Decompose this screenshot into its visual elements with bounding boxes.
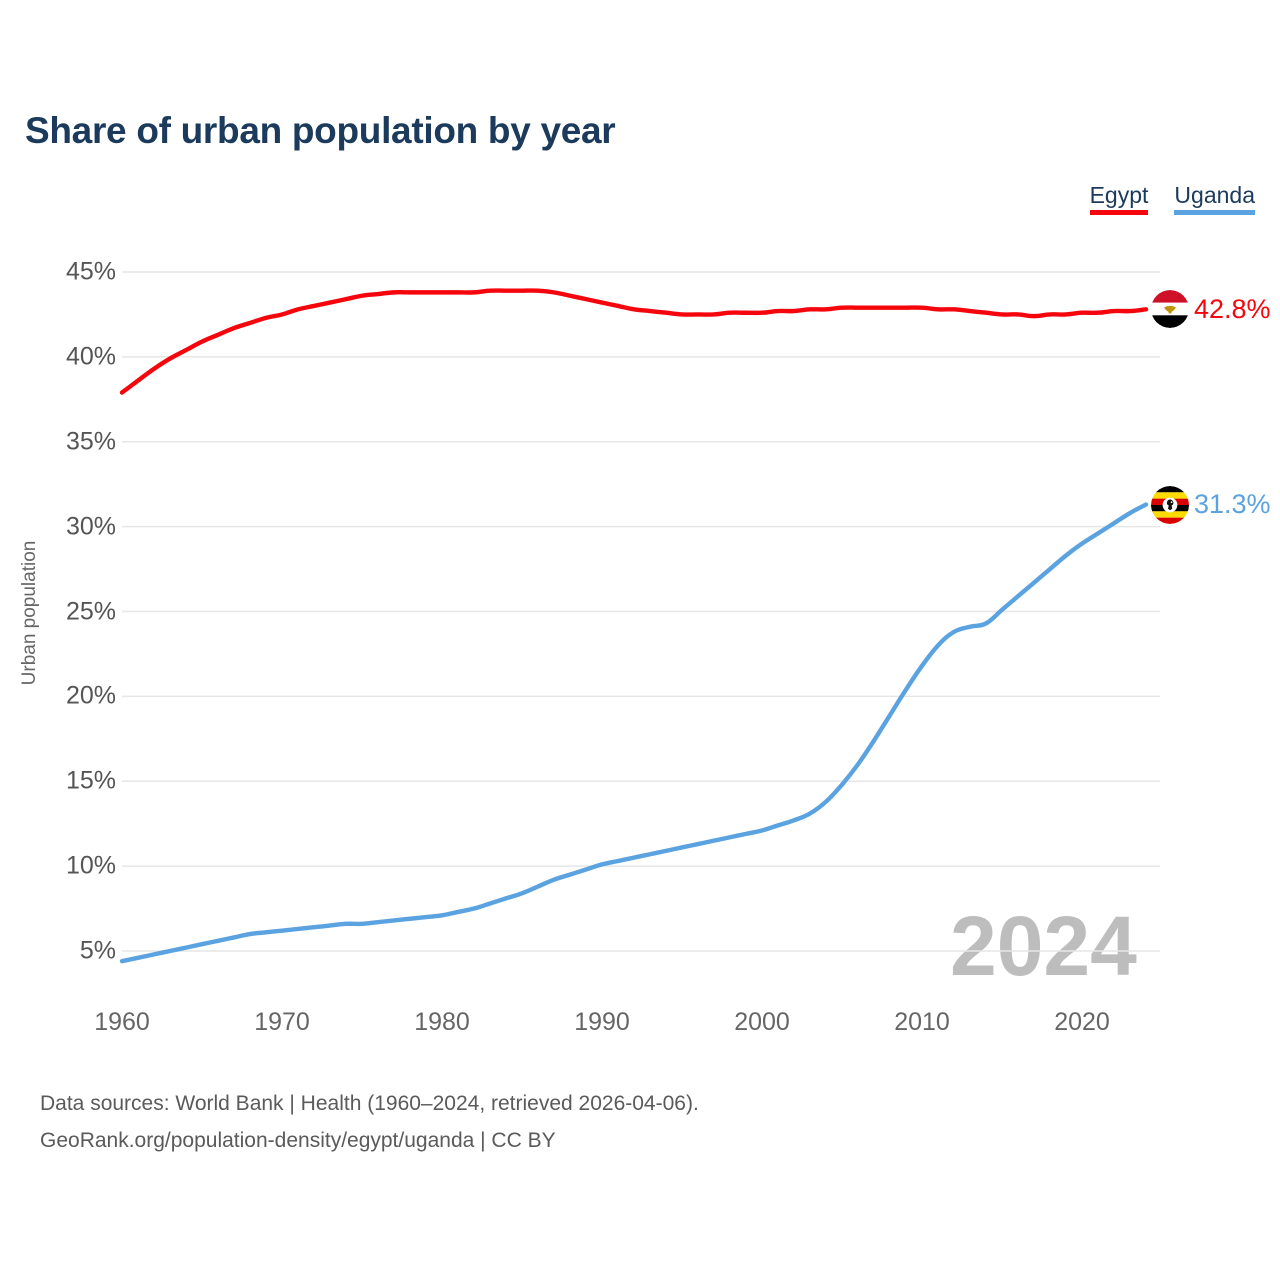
y-axis-tick-label: 45% [66, 258, 116, 287]
series-line-uganda [122, 505, 1146, 962]
endpoint-value-egypt: 42.8% [1194, 294, 1271, 325]
endpoint-label-uganda: 31.3% [1151, 486, 1271, 524]
series-lines [122, 291, 1146, 962]
x-axis-tick-label: 1980 [414, 1008, 470, 1037]
x-axis-tick-label: 2020 [1054, 1008, 1110, 1037]
x-axis-tick-label: 2000 [734, 1008, 790, 1037]
x-axis-tick-label: 1990 [574, 1008, 630, 1037]
uganda-flag-icon [1151, 486, 1189, 524]
x-axis-tick-label: 1970 [254, 1008, 310, 1037]
y-axis-tick-label: 35% [66, 427, 116, 456]
y-axis-tick-label: 30% [66, 512, 116, 541]
endpoint-value-uganda: 31.3% [1194, 489, 1271, 520]
y-axis-tick-label: 10% [66, 852, 116, 881]
x-axis-tick-label: 2010 [894, 1008, 950, 1037]
series-line-egypt [122, 291, 1146, 393]
egypt-flag-icon [1151, 290, 1189, 328]
x-axis-tick-label: 1960 [94, 1008, 150, 1037]
footer-credits: Data sources: World Bank | Health (1960–… [40, 1086, 699, 1160]
footer-line-2: GeoRank.org/population-density/egypt/uga… [40, 1123, 699, 1160]
footer-line-1: Data sources: World Bank | Health (1960–… [40, 1086, 699, 1123]
endpoint-label-egypt: 42.8% [1151, 290, 1271, 328]
y-axis-tick-label: 5% [80, 937, 116, 966]
gridlines [122, 272, 1160, 951]
y-axis-tick-label: 20% [66, 682, 116, 711]
y-axis-tick-label: 40% [66, 342, 116, 371]
y-axis-tick-label: 25% [66, 597, 116, 626]
y-axis-tick-label: 15% [66, 767, 116, 796]
chart-container: Share of urban population by year Egypt … [0, 0, 1280, 1280]
